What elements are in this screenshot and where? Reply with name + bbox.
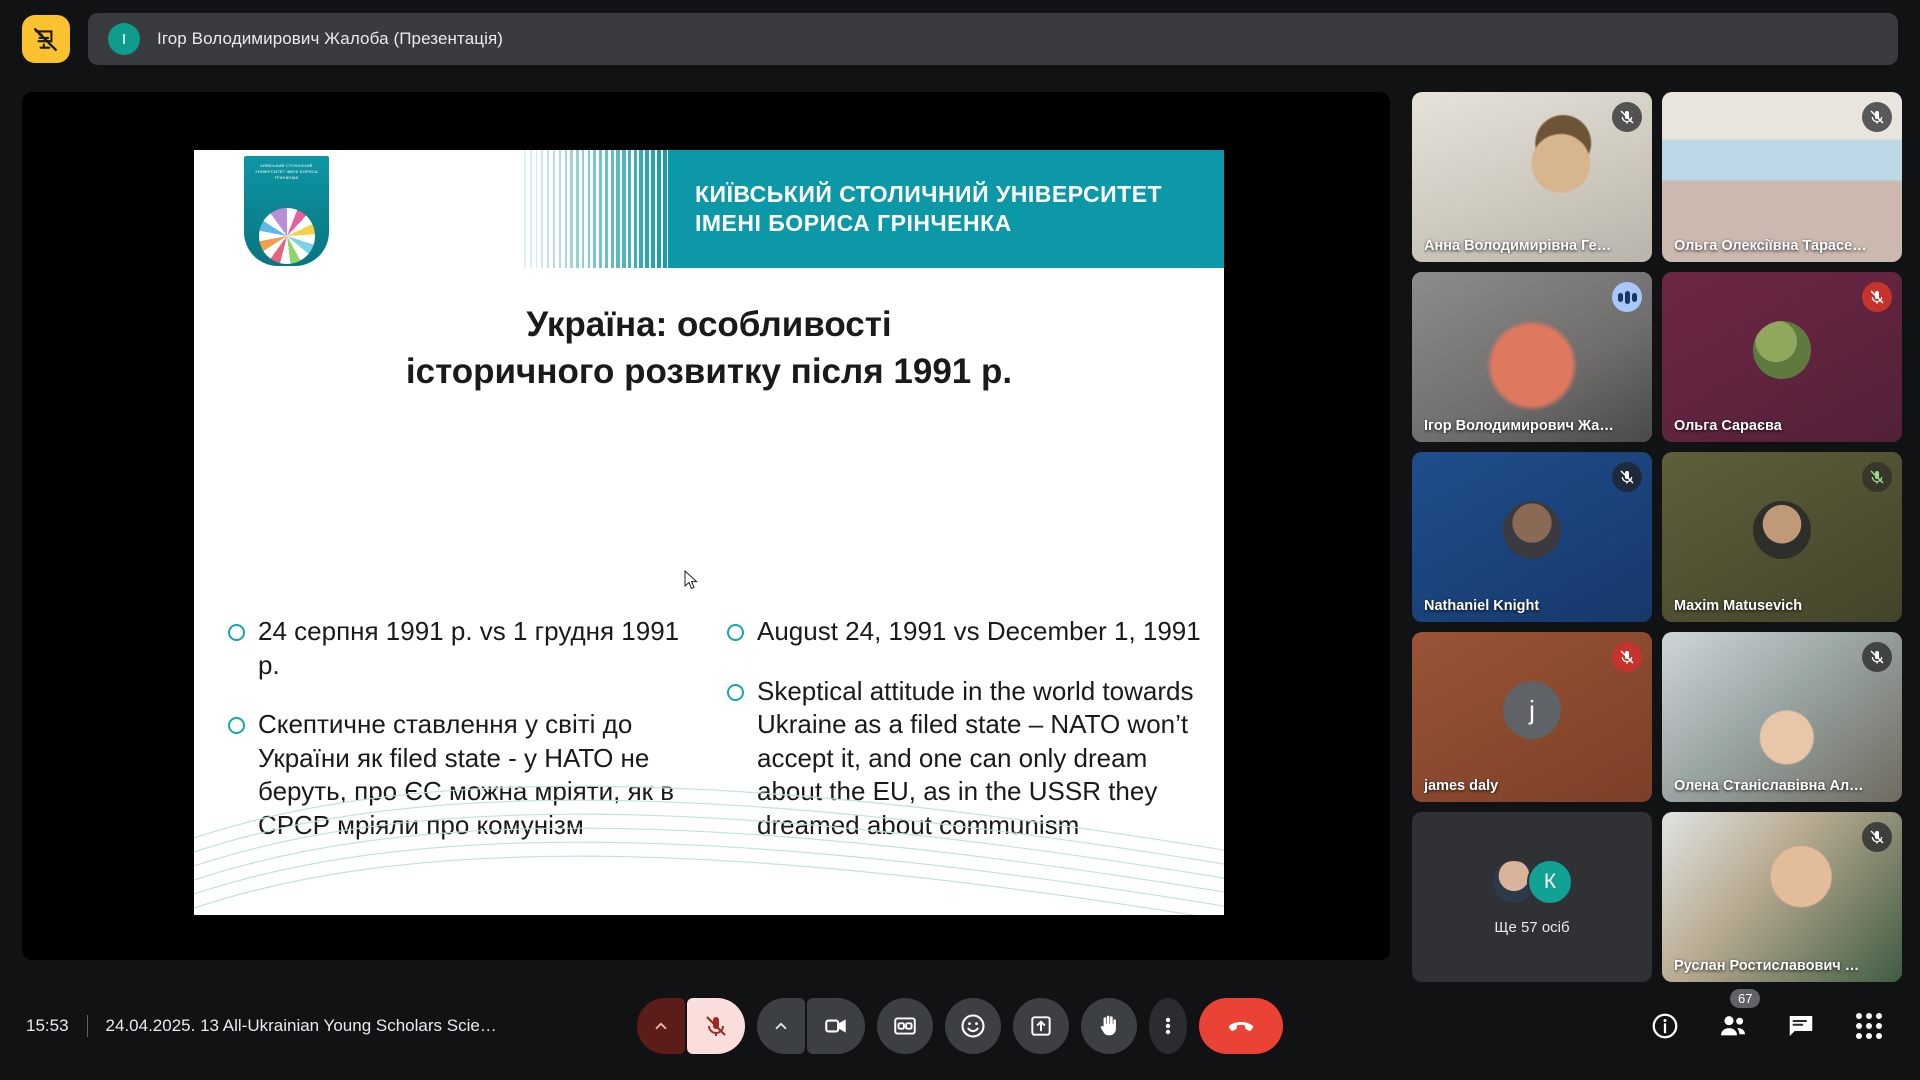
- participant-name: Maxim Matusevich: [1674, 598, 1868, 614]
- slide-title-line2: історичного розвитку після 1991 р.: [194, 349, 1224, 396]
- microphone-off-icon: [1612, 642, 1642, 672]
- microphone-control-group: [637, 998, 745, 1054]
- microphone-off-icon[interactable]: [687, 998, 745, 1054]
- avatar: [1753, 321, 1811, 379]
- overflow-participants-tile[interactable]: К Ще 57 осіб: [1412, 812, 1652, 982]
- microphone-off-icon: [1612, 102, 1642, 132]
- mouse-cursor: [684, 570, 698, 591]
- participant-row: Nathaniel Knight Maxim Matusevich: [1412, 452, 1902, 622]
- participant-row: К Ще 57 осіб Руслан Ростиславович К…: [1412, 812, 1902, 982]
- slide-column-english: August 24, 1991 vs December 1, 1991 Skep…: [709, 615, 1224, 868]
- microphone-off-icon: [1612, 462, 1642, 492]
- slide-stripes-decoration: [524, 150, 674, 268]
- bullet-text: 24 серпня 1991 р. vs 1 грудня 1991 р.: [258, 615, 687, 682]
- participant-name: Ігор Володимирович Жал…: [1424, 418, 1618, 434]
- grid-apps-icon[interactable]: [1852, 1009, 1886, 1043]
- university-title-band: КИЇВСЬКИЙ СТОЛИЧНИЙ УНІВЕРСИТЕТ ІМЕНІ БО…: [671, 150, 1224, 268]
- microphone-off-icon: [1862, 102, 1892, 132]
- participant-tile[interactable]: Nathaniel Knight: [1412, 452, 1652, 622]
- participant-row: j james daly Олена Станіславівна Але…: [1412, 632, 1902, 802]
- participant-name: Олена Станіславівна Але…: [1674, 778, 1868, 794]
- video-camera-icon[interactable]: [807, 998, 865, 1054]
- top-bar: I Ігор Володимирович Жалоба (Презентація…: [0, 0, 1920, 78]
- overflow-label: Ще 57 осіб: [1494, 919, 1569, 936]
- emoji-smile-icon[interactable]: [945, 998, 1001, 1054]
- logo-emblem-icon: [259, 208, 315, 264]
- share-screen-icon[interactable]: [1013, 998, 1069, 1054]
- info-icon[interactable]: [1648, 1009, 1682, 1043]
- slide-title-line1: Україна: особливості: [194, 302, 1224, 349]
- meeting-title: 24.04.2025. 13 All-Ukrainian Young Schol…: [106, 1016, 497, 1036]
- participant-count-badge: 67: [1730, 989, 1760, 1008]
- overflow-avatars: К: [1491, 859, 1573, 905]
- divider: [87, 1015, 88, 1037]
- presentation-slide: КИЇВСЬКИЙ СТОЛИЧНИЙ УНІВЕРСИТЕТ ІМЕНІ БО…: [194, 150, 1224, 915]
- participant-grid: Анна Володимирівна Гед… Ольга Олексіївна…: [1412, 92, 1902, 992]
- logo-caption: КИЇВСЬКИЙ СТОЛИЧНИЙ УНІВЕРСИТЕТ ІМЕНІ БО…: [244, 156, 329, 181]
- slide-title: Україна: особливості історичного розвитк…: [194, 302, 1224, 395]
- participant-tile[interactable]: Ігор Володимирович Жал…: [1412, 272, 1652, 442]
- university-name-line1: КИЇВСЬКИЙ СТОЛИЧНИЙ УНІВЕРСИТЕТ: [695, 180, 1224, 209]
- participant-tile[interactable]: Олена Станіславівна Але…: [1662, 632, 1902, 802]
- avatar: j: [1503, 681, 1561, 739]
- university-logo: КИЇВСЬКИЙ СТОЛИЧНИЙ УНІВЕРСИТЕТ ІМЕНІ БО…: [244, 156, 329, 266]
- mic-options-chevron[interactable]: [637, 998, 685, 1054]
- shared-screen-stage[interactable]: КИЇВСЬКИЙ СТОЛИЧНИЙ УНІВЕРСИТЕТ ІМЕНІ БО…: [22, 92, 1390, 960]
- presenter-name: Ігор Володимирович Жалоба (Презентація): [157, 29, 503, 49]
- participant-tile[interactable]: Ольга Сараєва: [1662, 272, 1902, 442]
- list-item: August 24, 1991 vs December 1, 1991: [727, 615, 1202, 649]
- closed-captions-icon[interactable]: [877, 998, 933, 1054]
- bullet-ring-icon: [727, 684, 744, 701]
- microphone-off-icon: [1862, 822, 1892, 852]
- right-controls: 67: [1648, 1009, 1886, 1043]
- bullet-ring-icon: [228, 717, 245, 734]
- slide-column-ukrainian: 24 серпня 1991 р. vs 1 грудня 1991 р. Ск…: [194, 615, 709, 868]
- bullet-ring-icon: [727, 624, 744, 641]
- avatar: К: [1527, 859, 1573, 905]
- slide-body-columns: 24 серпня 1991 р. vs 1 грудня 1991 р. Ск…: [194, 615, 1224, 868]
- microphone-off-icon: [1862, 462, 1892, 492]
- avatar: [1753, 501, 1811, 559]
- kebab-menu-icon[interactable]: [1149, 998, 1187, 1054]
- participant-tile[interactable]: Ольга Олексіївна Тарасе…: [1662, 92, 1902, 262]
- participant-row: Анна Володимирівна Гед… Ольга Олексіївна…: [1412, 92, 1902, 262]
- speaking-indicator-icon: [1612, 282, 1642, 312]
- bullet-text: Скептичне ставлення у світі до України я…: [258, 708, 687, 842]
- participant-row: Ігор Володимирович Жал… Ольга Сараєва: [1412, 272, 1902, 442]
- meeting-meta: 15:53 24.04.2025. 13 All-Ukrainian Young…: [26, 1015, 497, 1037]
- call-controls: [637, 998, 1283, 1054]
- camera-options-chevron[interactable]: [757, 998, 805, 1054]
- participant-tile[interactable]: Maxim Matusevich: [1662, 452, 1902, 622]
- participant-tile[interactable]: Анна Володимирівна Гед…: [1412, 92, 1652, 262]
- bullet-ring-icon: [228, 624, 245, 641]
- avatar: [1503, 501, 1561, 559]
- presentation-off-icon[interactable]: [22, 15, 70, 63]
- participant-name: Nathaniel Knight: [1424, 598, 1618, 614]
- meeting-time: 15:53: [26, 1016, 69, 1036]
- university-name-line2: ІМЕНІ БОРИСА ГРІНЧЕНКА: [695, 209, 1224, 238]
- microphone-off-icon: [1862, 282, 1892, 312]
- hang-up-icon[interactable]: [1199, 998, 1283, 1054]
- microphone-off-icon: [1862, 642, 1892, 672]
- list-item: Скептичне ставлення у світі до України я…: [228, 708, 687, 842]
- list-item: Skeptical attitude in the world towards …: [727, 675, 1202, 843]
- avatar: I: [108, 23, 140, 55]
- participant-tile[interactable]: j james daly: [1412, 632, 1652, 802]
- raised-hand-icon[interactable]: [1081, 998, 1137, 1054]
- slide-header-band: КИЇВСЬКИЙ СТОЛИЧНИЙ УНІВЕРСИТЕТ ІМЕНІ БО…: [194, 150, 1224, 268]
- people-icon[interactable]: 67: [1716, 1009, 1750, 1043]
- participant-tile[interactable]: Руслан Ростиславович К…: [1662, 812, 1902, 982]
- participant-name: Ольга Олексіївна Тарасе…: [1674, 238, 1868, 254]
- chat-bubble-icon[interactable]: [1784, 1009, 1818, 1043]
- camera-control-group: [757, 998, 865, 1054]
- participant-name: james daly: [1424, 778, 1618, 794]
- bullet-text: August 24, 1991 vs December 1, 1991: [757, 615, 1201, 649]
- list-item: 24 серпня 1991 р. vs 1 грудня 1991 р.: [228, 615, 687, 682]
- participant-name: Ольга Сараєва: [1674, 418, 1868, 434]
- bullet-text: Skeptical attitude in the world towards …: [757, 675, 1202, 843]
- presenter-pill[interactable]: I Ігор Володимирович Жалоба (Презентація…: [88, 13, 1898, 65]
- participant-name: Анна Володимирівна Гед…: [1424, 238, 1618, 254]
- bottom-control-bar: 15:53 24.04.2025. 13 All-Ukrainian Young…: [0, 972, 1920, 1080]
